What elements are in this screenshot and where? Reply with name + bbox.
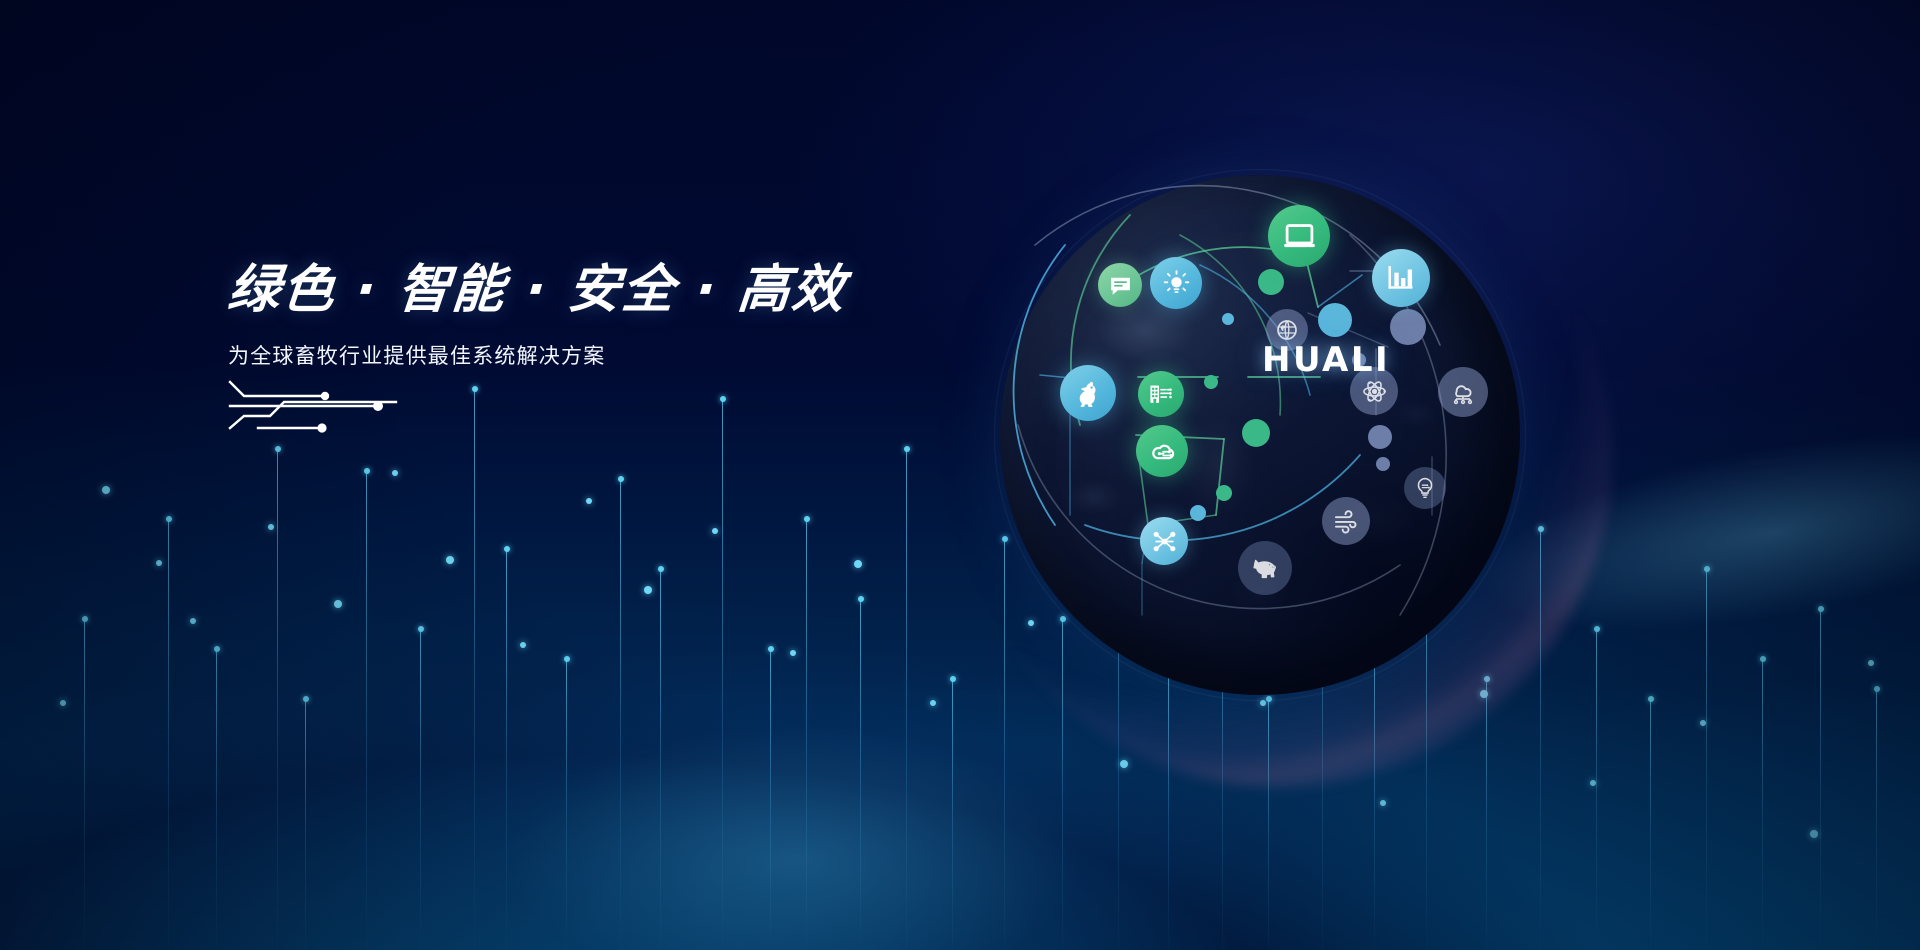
- wind-icon: [1333, 508, 1360, 535]
- page-title: 绿色 · 智能 · 安全 · 高效: [226, 262, 851, 318]
- chat-bubble-icon: [1108, 273, 1133, 298]
- circuit-dot-3: [317, 423, 326, 432]
- lightbulb-icon: [1413, 476, 1437, 500]
- network-node-laptop[interactable]: [1268, 205, 1330, 267]
- network-node-bulb[interactable]: [1404, 467, 1446, 509]
- circuit-dot-1: [321, 392, 329, 400]
- atom-icon: [1361, 378, 1388, 405]
- network-plain-node: [1190, 505, 1206, 521]
- circuit-lines-svg: [228, 378, 398, 438]
- laptop-icon: [1282, 219, 1317, 254]
- network-node-cloudflow[interactable]: [1136, 425, 1188, 477]
- network-nodes-icon: [1151, 528, 1178, 555]
- network-plain-node: [1376, 457, 1390, 471]
- network-node-pig[interactable]: [1238, 541, 1292, 595]
- network-node-wind[interactable]: [1322, 497, 1370, 545]
- network-node-chart[interactable]: [1372, 249, 1430, 307]
- network-plain-node: [1368, 425, 1392, 449]
- network-plain-node: [1258, 269, 1284, 295]
- network-node-cloudnet[interactable]: [1438, 367, 1488, 417]
- network-plain-node: [1390, 309, 1426, 345]
- pig-icon: [1250, 553, 1280, 583]
- network-plain-node: [1216, 485, 1232, 501]
- decorative-circuit-lines: [228, 378, 398, 438]
- network-plain-node: [1318, 303, 1352, 337]
- hero-text-block: 绿色 · 智能 · 安全 · 高效 为全球畜牧行业提供最佳系统解决方案: [228, 262, 848, 370]
- bar-chart-icon: [1385, 262, 1417, 294]
- network-node-nodes[interactable]: [1140, 517, 1188, 565]
- globe-network-graphic: HUALI: [1000, 175, 1560, 735]
- network-node-factory[interactable]: [1138, 371, 1184, 417]
- cloud-flow-icon: [1148, 437, 1177, 466]
- globe-earth-icon: [1275, 318, 1299, 342]
- network-connectors: [880, 95, 1640, 815]
- hero-banner: HUALI 绿色 · 智能 · 安全 · 高效 为全球畜牧行业提供最佳系统解决方…: [0, 0, 1920, 950]
- network-plain-node: [1222, 313, 1234, 325]
- network-node-sun[interactable]: [1150, 257, 1202, 309]
- circuit-dot-2: [373, 401, 383, 411]
- network-node-chicken[interactable]: [1060, 365, 1116, 421]
- page-subtitle: 为全球畜牧行业提供最佳系统解决方案: [228, 340, 848, 370]
- cloud-network-icon: [1449, 378, 1477, 406]
- chicken-icon: [1073, 378, 1104, 409]
- network-node-chat[interactable]: [1098, 263, 1142, 307]
- sun-light-icon: [1162, 269, 1191, 298]
- network-plain-node: [1242, 419, 1270, 447]
- factory-data-icon: [1148, 381, 1174, 407]
- brand-wordmark: HUALI: [1262, 340, 1390, 380]
- network-plain-node: [1204, 375, 1218, 389]
